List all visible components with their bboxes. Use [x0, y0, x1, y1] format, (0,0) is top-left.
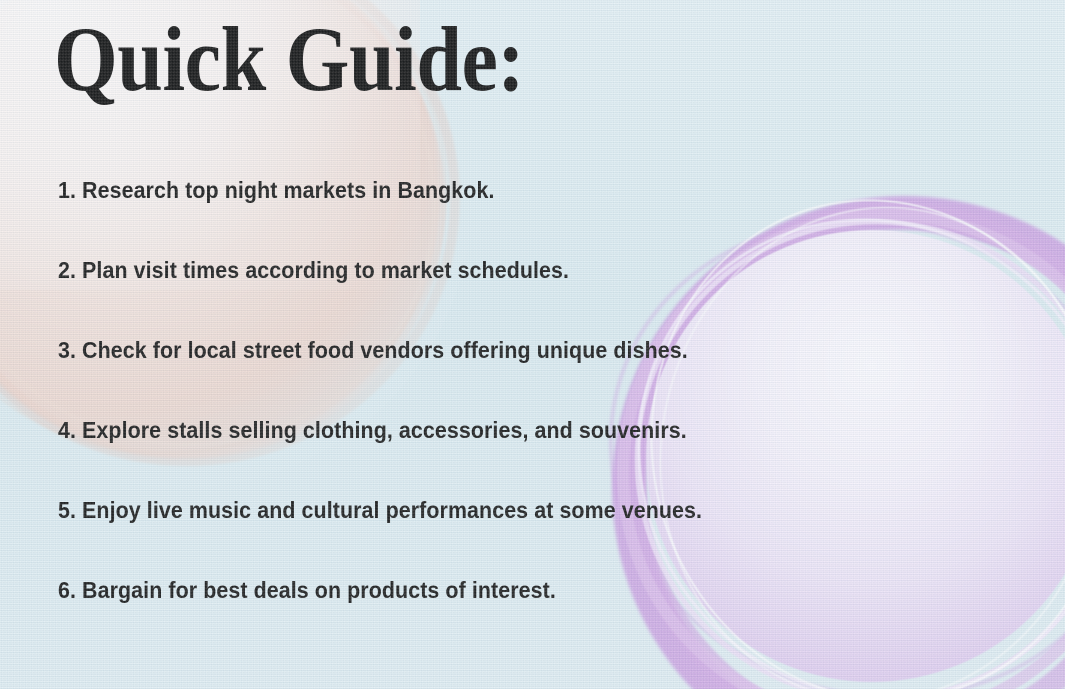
list-item: 3. Check for local street food vendors o…	[58, 310, 951, 390]
list-item: 2. Plan visit times according to market …	[58, 230, 951, 310]
list-item: 1. Research top night markets in Bangkok…	[58, 150, 951, 230]
list-item: 6. Bargain for best deals on products of…	[58, 550, 951, 630]
quick-guide-poster: Quick Guide: 1. Research top night marke…	[0, 0, 1065, 689]
poster-content: Quick Guide: 1. Research top night marke…	[0, 0, 1065, 689]
list-item: 5. Enjoy live music and cultural perform…	[58, 470, 951, 550]
page-title: Quick Guide:	[54, 14, 524, 106]
list-item: 4. Explore stalls selling clothing, acce…	[58, 390, 951, 470]
steps-list: 1. Research top night markets in Bangkok…	[58, 150, 1018, 630]
